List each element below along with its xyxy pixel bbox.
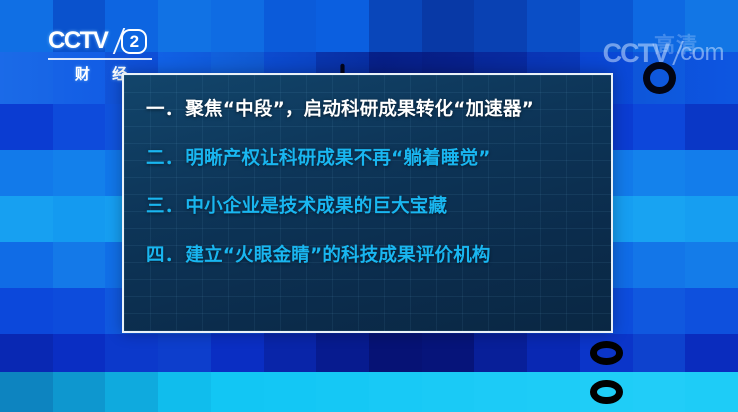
headline-text: 聚焦“中段”，启动科研成果转化“加速器”	[185, 99, 534, 120]
headline-item: 一．聚焦“中段”，启动科研成果转化“加速器”	[146, 101, 611, 120]
geometric-shape-icon	[105, 334, 158, 372]
background-tile-shape	[0, 242, 53, 288]
background-tile	[53, 242, 106, 288]
background-tile-shape	[105, 372, 158, 412]
headline-item: 四．建立“火眼金睛”的科技成果评价机构	[146, 247, 611, 266]
background-tile-shape	[0, 0, 53, 52]
background-tile	[0, 196, 53, 242]
geometric-shape-icon	[691, 155, 733, 191]
background-tile-shape	[211, 334, 264, 372]
background-tile-shape	[53, 196, 106, 242]
headline-list: 一．聚焦“中段”，启动科研成果转化“加速器”二．明晰产权让科研成果不再“躺着睡觉…	[146, 101, 611, 265]
geometric-shape-icon	[53, 372, 106, 412]
headline-item: 三．中小企业是技术成果的巨大宝藏	[146, 198, 611, 217]
background-tile-shape	[474, 334, 527, 372]
geometric-shape-icon	[53, 334, 106, 372]
background-tile-shape	[0, 150, 53, 196]
geometric-shape-icon	[685, 196, 738, 242]
headline-index: 四．	[146, 245, 183, 266]
background-tile-shape	[158, 334, 211, 372]
geometric-shape-icon	[0, 242, 53, 288]
background-tile	[527, 0, 580, 52]
background-tile	[633, 196, 686, 242]
geometric-shape-icon	[369, 334, 422, 372]
geometric-shape-icon	[474, 334, 527, 372]
background-tile-shape	[633, 242, 686, 288]
background-tile-shape	[211, 372, 264, 412]
background-tile-shape	[316, 372, 369, 412]
geometric-shape-icon	[539, 382, 569, 404]
geometric-shape-icon	[105, 372, 158, 412]
geometric-shape-icon	[264, 334, 317, 372]
background-tile-shape	[53, 372, 106, 412]
background-tile-shape	[0, 334, 53, 372]
circle-outline-icon	[590, 341, 623, 365]
background-tile-shape	[685, 196, 738, 242]
geometric-shape-icon	[425, 372, 471, 395]
background-tile-shape	[105, 334, 158, 372]
geometric-shape-icon	[53, 288, 106, 334]
background-tile-shape	[0, 372, 53, 412]
geometric-shape-icon	[0, 372, 53, 412]
background-tile-shape	[53, 288, 106, 334]
circle-outline-icon	[590, 380, 623, 405]
geometric-shape-icon	[369, 372, 422, 412]
background-tile	[369, 0, 422, 52]
geometric-shape-icon	[638, 247, 680, 283]
background-tile-shape	[369, 372, 422, 412]
headline-index: 三．	[146, 196, 183, 217]
headline-index: 一．	[146, 99, 183, 120]
channel-logo-row: CCTV 2	[48, 26, 154, 56]
background-tile-shape	[264, 372, 317, 412]
geometric-shape-icon	[0, 150, 37, 196]
geometric-shape-icon	[316, 372, 369, 412]
geometric-shape-icon	[0, 104, 53, 150]
headline-text: 中小企业是技术成果的巨大宝藏	[185, 196, 447, 217]
background-tile	[633, 288, 686, 334]
background-tile-shape	[158, 372, 211, 412]
background-tile-shape	[685, 150, 738, 196]
background-tile	[53, 104, 106, 150]
background-tile-shape	[369, 334, 422, 372]
channel-logo-name: CCTV	[48, 29, 107, 53]
background-tile	[474, 372, 527, 412]
background-tile	[474, 0, 527, 52]
geometric-shape-icon	[264, 372, 317, 412]
background-tile-shape	[422, 0, 475, 52]
background-tile-shape	[633, 104, 686, 150]
channel-logo-number: 2	[121, 29, 147, 54]
background-tile	[53, 150, 106, 196]
background-tile	[0, 288, 53, 334]
background-tile-shape	[685, 334, 738, 372]
background-tile-shape	[264, 0, 317, 52]
background-tile-shape	[633, 334, 686, 372]
geometric-shape-icon	[0, 0, 53, 52]
background-tile	[527, 334, 580, 372]
diagonal-stripes-icon	[158, 0, 211, 52]
headline-text: 明晰产权让科研成果不再“躺着睡觉”	[185, 148, 490, 169]
background-tile	[422, 334, 475, 372]
background-tile	[685, 104, 738, 150]
background-tile	[316, 334, 369, 372]
background-tile-shape	[685, 372, 738, 412]
background-tile-shape	[264, 334, 317, 372]
geometric-shape-icon	[264, 0, 317, 52]
headline-text: 建立“火眼金睛”的科技成果评价机构	[185, 245, 490, 266]
background-tile-shape	[633, 372, 686, 412]
headline-panel: 一．聚焦“中段”，启动科研成果转化“加速器”二．明晰产权让科研成果不再“躺着睡觉…	[122, 73, 613, 333]
broadcast-frame: CCTV 2 财 经 高清 CCTV com 一．聚焦“中段”，启动科研成果转化…	[0, 0, 738, 412]
background-tile-shape	[53, 334, 106, 372]
background-tile-shape	[580, 372, 633, 412]
geometric-shape-icon	[170, 382, 200, 404]
geometric-shape-icon	[211, 334, 264, 372]
background-tile-shape	[685, 288, 738, 334]
background-tile-shape	[580, 334, 633, 372]
cctv-com-watermark: 高清 CCTV com	[603, 36, 724, 70]
geometric-shape-icon	[633, 104, 686, 150]
background-tile-shape	[527, 372, 580, 412]
diagonal-stripes-icon	[158, 334, 211, 372]
background-tile	[633, 150, 686, 196]
headline-item: 二．明晰产权让科研成果不再“躺着睡觉”	[146, 150, 611, 169]
diagonal-stripes-icon	[53, 196, 106, 242]
geometric-shape-icon	[422, 0, 475, 52]
background-tile	[685, 242, 738, 288]
background-tile	[211, 0, 264, 52]
background-tile-shape	[158, 0, 211, 52]
geometric-shape-icon	[217, 376, 259, 407]
geometric-shape-icon	[685, 288, 738, 334]
geometric-shape-icon	[0, 334, 53, 372]
geometric-shape-icon	[633, 372, 686, 412]
geometric-shape-icon	[685, 334, 738, 372]
channel-logo-underline	[48, 58, 152, 60]
background-tile-shape	[422, 372, 475, 412]
channel-logo: CCTV 2 财 经	[48, 26, 154, 80]
background-tile	[316, 0, 369, 52]
geometric-shape-icon	[633, 334, 686, 372]
geometric-shape-icon	[691, 376, 733, 407]
headline-index: 二．	[146, 148, 183, 169]
background-tile-shape	[0, 104, 53, 150]
